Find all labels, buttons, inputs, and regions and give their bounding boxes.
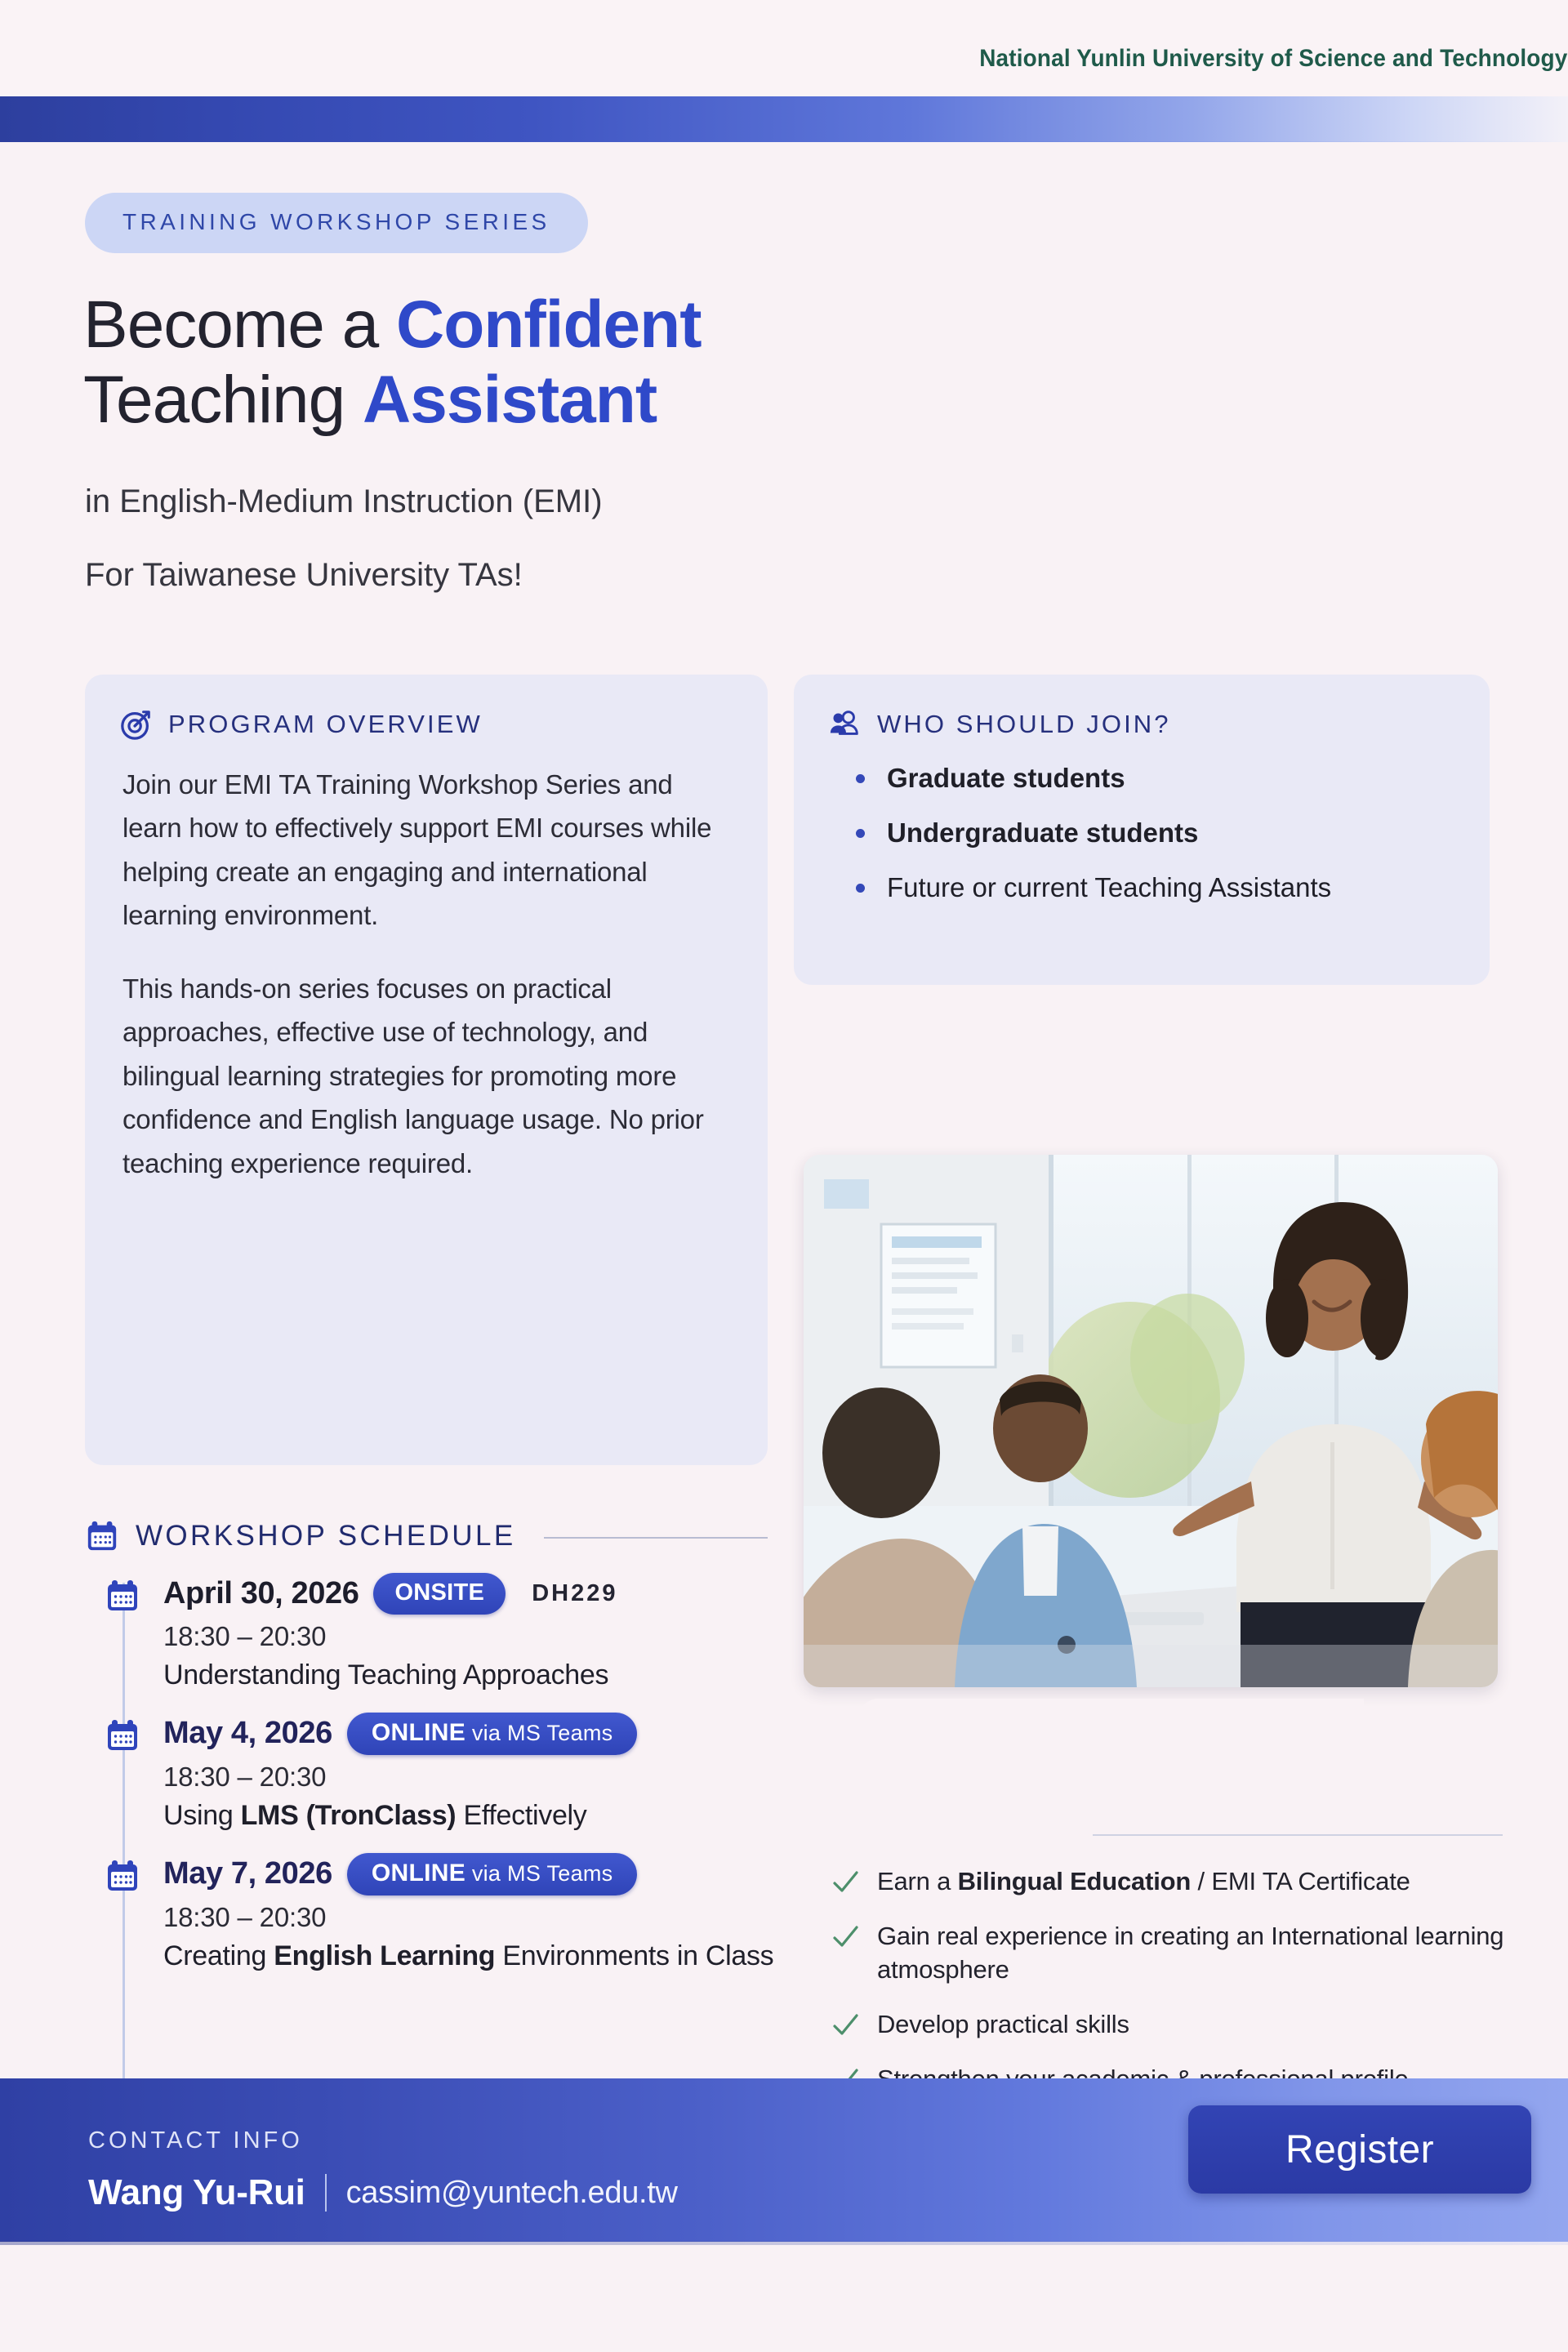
- session-headline: May 7, 2026 ONLINE via MS Teams: [163, 1853, 787, 1895]
- benefit-text-part: Earn a: [877, 1867, 958, 1895]
- session-mode-badge: ONLINE via MS Teams: [347, 1853, 638, 1895]
- overview-paragraph-2: This hands-on series focuses on practica…: [122, 967, 730, 1185]
- session-topic-part: Understanding Teaching Approaches: [163, 1659, 608, 1690]
- subtitle-audience: For Taiwanese University TAs!: [85, 557, 523, 594]
- photo-corner-notch: [857, 1699, 1364, 1795]
- session-headline: May 4, 2026 ONLINE via MS Teams: [163, 1713, 787, 1755]
- calendar-icon: [105, 1858, 140, 1894]
- schedule-session: May 7, 2026 ONLINE via MS Teams 18:30 – …: [85, 1853, 787, 1974]
- benefit-item: Earn a Bilingual Education / EMI TA Cert…: [831, 1865, 1509, 1899]
- session-mode-badge: ONSITE: [373, 1573, 506, 1615]
- schedule-session: May 4, 2026 ONLINE via MS Teams 18:30 – …: [85, 1713, 787, 1833]
- page-title: Become a Confident Teaching Assistant: [83, 287, 702, 438]
- target-icon: [119, 707, 154, 742]
- poster-body: TRAINING WORKSHOP SERIES Become a Confid…: [0, 142, 1568, 2352]
- check-icon: [831, 1923, 859, 1951]
- session-mode-suffix: via MS Teams: [465, 1721, 612, 1745]
- schedule-divider: [544, 1537, 768, 1539]
- program-overview-card: PROGRAM OVERVIEW Join our EMI TA Trainin…: [85, 675, 768, 1465]
- university-header-strip: National Yunlin University of Science an…: [0, 0, 1568, 96]
- series-badge: TRAINING WORKSHOP SERIES: [85, 193, 588, 253]
- session-room: DH229: [532, 1580, 617, 1607]
- workshop-schedule-title: WORKSHOP SCHEDULE: [136, 1520, 516, 1552]
- check-icon: [831, 1869, 859, 1896]
- benefits-divider: [1093, 1834, 1503, 1836]
- workshop-schedule-header: WORKSHOP SCHEDULE: [85, 1519, 768, 1553]
- session-mode-badge: ONLINE via MS Teams: [347, 1713, 638, 1755]
- benefit-item: Develop practical skills: [831, 2008, 1509, 2042]
- who-should-join-list: Graduate students Undergraduate students…: [794, 742, 1490, 906]
- program-overview-header: PROGRAM OVERVIEW: [85, 675, 768, 742]
- title-line2-accent: Assistant: [363, 363, 657, 437]
- session-time: 18:30 – 20:30: [163, 1902, 787, 1933]
- classroom-discussion-photo: [804, 1155, 1498, 1687]
- benefit-text-part: Gain real experience in creating an Inte…: [877, 1922, 1503, 1984]
- session-mode-label: ONLINE: [372, 1860, 465, 1886]
- session-topic-part: Using: [163, 1800, 241, 1831]
- session-mode-suffix: via MS Teams: [465, 1861, 612, 1886]
- schedule-session: April 30, 2026 ONSITE DH229 18:30 – 20:3…: [85, 1573, 787, 1693]
- title-line1-plain: Become a: [83, 287, 396, 362]
- program-overview-title: PROGRAM OVERVIEW: [168, 710, 483, 739]
- program-overview-body: Join our EMI TA Training Workshop Series…: [85, 742, 768, 1185]
- list-item: Undergraduate students: [848, 816, 1490, 850]
- session-topic-part: Creating: [163, 1940, 274, 1971]
- benefit-text-part: Develop practical skills: [877, 2010, 1129, 2038]
- session-time: 18:30 – 20:30: [163, 1762, 787, 1793]
- overview-paragraph-1: Join our EMI TA Training Workshop Series…: [122, 763, 730, 938]
- session-date: May 7, 2026: [163, 1856, 332, 1891]
- session-time: 18:30 – 20:30: [163, 1621, 787, 1652]
- calendar-icon: [105, 1578, 140, 1614]
- title-line1-accent: Confident: [396, 287, 702, 362]
- session-topic-emphasis: English Learning: [274, 1940, 495, 1971]
- register-button[interactable]: Register: [1188, 2105, 1531, 2194]
- contact-name: Wang Yu-Rui: [88, 2172, 305, 2213]
- session-mode-label: ONLINE: [372, 1719, 465, 1746]
- contact-email[interactable]: cassim@yuntech.edu.tw: [346, 2176, 678, 2211]
- who-should-join-header: WHO SHOULD JOIN?: [794, 675, 1490, 742]
- calendar-icon: [85, 1519, 119, 1553]
- contact-info-row: Wang Yu-Rui cassim@yuntech.edu.tw: [88, 2172, 678, 2213]
- session-topic: Understanding Teaching Approaches: [163, 1658, 787, 1693]
- workshop-schedule-timeline: April 30, 2026 ONSITE DH229 18:30 – 20:3…: [85, 1573, 787, 2145]
- benefit-text-emphasis: Bilingual Education: [958, 1867, 1192, 1895]
- calendar-icon: [105, 1717, 140, 1753]
- list-item: Graduate students: [848, 761, 1490, 795]
- session-date: May 4, 2026: [163, 1716, 332, 1751]
- register-button-label: Register: [1285, 2127, 1434, 2172]
- university-name: National Yunlin University of Science an…: [979, 45, 1567, 73]
- session-topic: Using LMS (TronClass) Effectively: [163, 1798, 787, 1833]
- contact-divider: [325, 2174, 327, 2212]
- who-should-join-title: WHO SHOULD JOIN?: [877, 710, 1171, 739]
- subtitle-emi: in English-Medium Instruction (EMI): [85, 483, 603, 520]
- benefit-item: Gain real experience in creating an Inte…: [831, 1920, 1509, 1987]
- session-topic-part: Environments in Class: [495, 1940, 773, 1971]
- contact-info-label: CONTACT INFO: [88, 2127, 303, 2154]
- session-date: April 30, 2026: [163, 1576, 359, 1611]
- people-icon: [828, 707, 862, 742]
- session-topic-part: Effectively: [456, 1800, 586, 1831]
- check-icon: [831, 2011, 859, 2039]
- list-item: Future or current Teaching Assistants: [848, 871, 1490, 905]
- who-should-join-card: WHO SHOULD JOIN? Graduate students Under…: [794, 675, 1490, 985]
- session-topic: Creating English Learning Environments i…: [163, 1939, 787, 1974]
- session-headline: April 30, 2026 ONSITE DH229: [163, 1573, 787, 1615]
- top-gradient-bar: [0, 96, 1568, 142]
- title-line2-plain: Teaching: [83, 363, 363, 437]
- benefit-text-part: / EMI TA Certificate: [1191, 1867, 1410, 1895]
- session-topic-emphasis: LMS (TronClass): [241, 1800, 457, 1831]
